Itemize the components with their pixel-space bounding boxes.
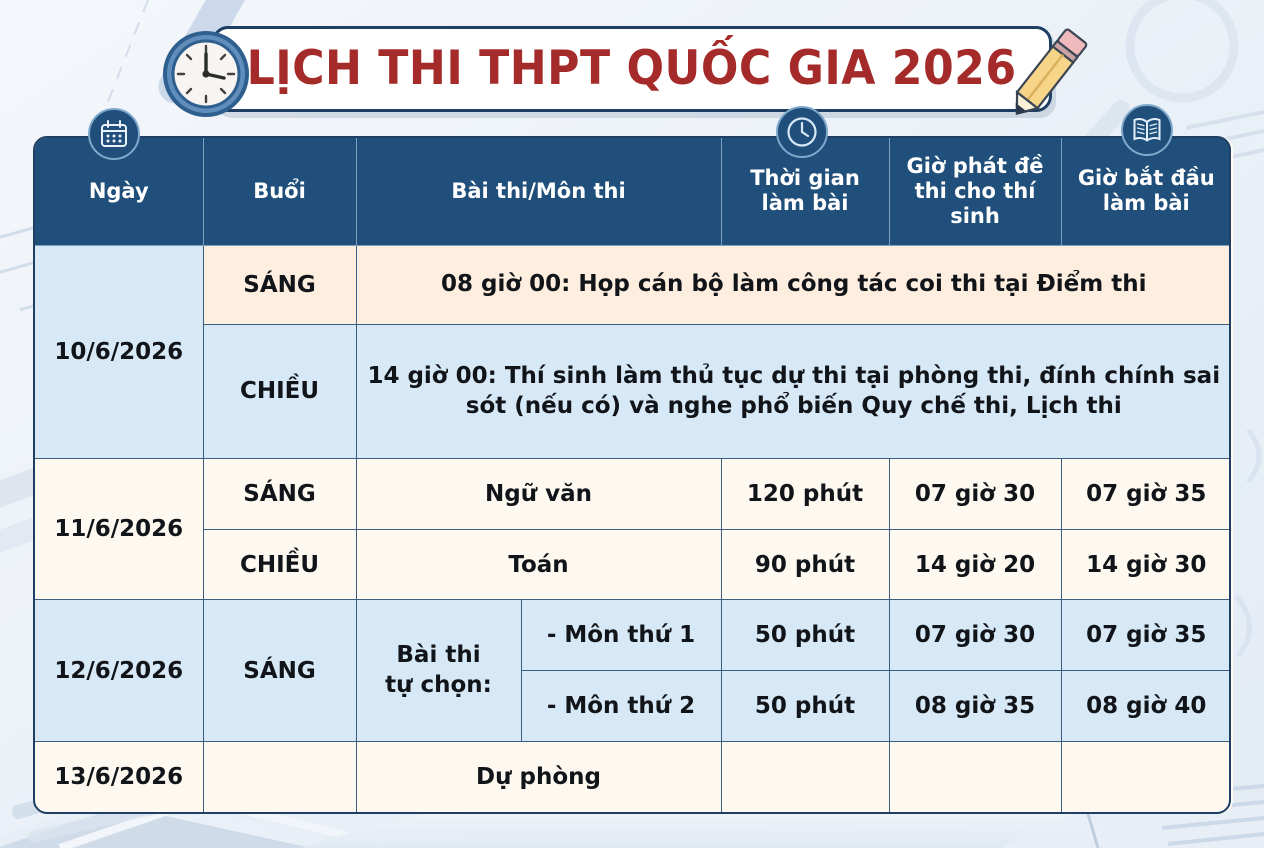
cell-start-time: 07 giờ 35 bbox=[1061, 600, 1232, 671]
cell-start-time: 07 giờ 35 bbox=[1061, 458, 1232, 529]
cell-duration: 90 phút bbox=[721, 529, 889, 600]
cell-session bbox=[203, 741, 356, 813]
cell-subject: Toán bbox=[356, 529, 721, 600]
title-plate: LỊCH THI THPT QUỐC GIA 2026 bbox=[212, 26, 1052, 112]
cell-start-time: 08 giờ 40 bbox=[1061, 671, 1232, 742]
note-text: Thí sinh làm thủ tục dự thi tại phòng th… bbox=[466, 363, 1220, 420]
note-text: Họp cán bộ làm công tác coi thi tại Điểm… bbox=[570, 271, 1146, 297]
cell-date: 10/6/2026 bbox=[34, 245, 203, 458]
page-title: LỊCH THI THPT QUỐC GIA 2026 bbox=[247, 41, 1017, 96]
cell-session: CHIỀU bbox=[203, 529, 356, 600]
book-icon bbox=[1121, 104, 1173, 156]
cell-date: 11/6/2026 bbox=[34, 458, 203, 599]
cell-note: 08 giờ 00: Họp cán bộ làm công tác coi t… bbox=[356, 245, 1232, 324]
cell-handout-time bbox=[889, 741, 1061, 813]
cell-duration: 50 phút bbox=[721, 671, 889, 742]
column-header-bai-thi: Bài thi/Môn thi bbox=[356, 137, 721, 245]
table-row: 11/6/2026 SÁNG Ngữ văn 120 phút 07 giờ 3… bbox=[34, 458, 1232, 529]
cell-duration bbox=[721, 741, 889, 813]
cell-session: CHIỀU bbox=[203, 324, 356, 458]
column-header-buoi: Buổi bbox=[203, 137, 356, 245]
note-time: 14 giờ 00: bbox=[367, 363, 496, 389]
table-row: CHIỀU Toán 90 phút 14 giờ 20 14 giờ 30 bbox=[34, 529, 1232, 600]
cell-date: 13/6/2026 bbox=[34, 741, 203, 813]
clock-icon bbox=[776, 106, 828, 158]
exam-schedule-table: Ngày Buổi Bài thi/Môn thi Thời gian làm … bbox=[33, 136, 1231, 814]
cell-handout-time: 14 giờ 20 bbox=[889, 529, 1061, 600]
table-row: CHIỀU 14 giờ 00: Thí sinh làm thủ tục dự… bbox=[34, 324, 1232, 458]
cell-session: SÁNG bbox=[203, 245, 356, 324]
cell-note: 14 giờ 00: Thí sinh làm thủ tục dự thi t… bbox=[356, 324, 1232, 458]
table-row: 12/6/2026 SÁNG Bài thi tự chọn: - Môn th… bbox=[34, 600, 1232, 671]
cell-subject: Dự phòng bbox=[356, 741, 721, 813]
cell-handout-time: 08 giờ 35 bbox=[889, 671, 1061, 742]
cell-session: SÁNG bbox=[203, 600, 356, 741]
cell-subject: - Môn thứ 1 bbox=[521, 600, 721, 671]
calendar-icon bbox=[88, 108, 140, 160]
cell-session: SÁNG bbox=[203, 458, 356, 529]
cell-handout-time: 07 giờ 30 bbox=[889, 458, 1061, 529]
table-header-row: Ngày Buổi Bài thi/Môn thi Thời gian làm … bbox=[34, 137, 1232, 245]
elective-label-line1: Bài thi bbox=[365, 641, 513, 671]
table-row: 13/6/2026 Dự phòng bbox=[34, 741, 1232, 813]
cell-elective-group-label: Bài thi tự chọn: bbox=[356, 600, 521, 741]
cell-duration: 120 phút bbox=[721, 458, 889, 529]
table-row: 10/6/2026 SÁNG 08 giờ 00: Họp cán bộ làm… bbox=[34, 245, 1232, 324]
cell-duration: 50 phút bbox=[721, 600, 889, 671]
note-time: 08 giờ 00: bbox=[441, 271, 570, 297]
cell-handout-time: 07 giờ 30 bbox=[889, 600, 1061, 671]
cell-start-time bbox=[1061, 741, 1232, 813]
pencil-icon bbox=[1004, 20, 1090, 130]
column-header-gio-phat-de: Giờ phát đề thi cho thí sinh bbox=[889, 137, 1061, 245]
cell-subject: Ngữ văn bbox=[356, 458, 721, 529]
cell-subject: - Môn thứ 2 bbox=[521, 671, 721, 742]
clock-icon bbox=[158, 26, 254, 122]
cell-start-time: 14 giờ 30 bbox=[1061, 529, 1232, 600]
cell-date: 12/6/2026 bbox=[34, 600, 203, 741]
elective-label-line2: tự chọn: bbox=[365, 671, 513, 701]
